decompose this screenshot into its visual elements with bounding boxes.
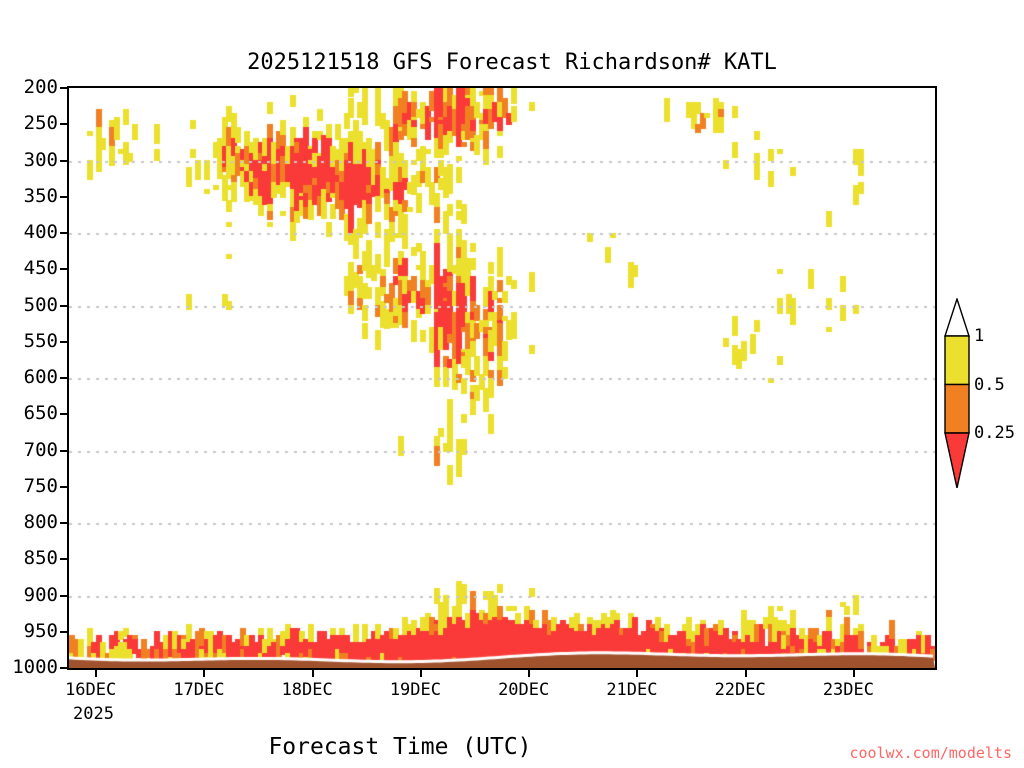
x-tick-label: 21DEC (606, 681, 657, 700)
x-tick-mark (312, 670, 314, 677)
x-axis: 16DEC17DEC18DEC19DEC20DEC21DEC22DEC23DEC (0, 0, 1024, 768)
forecast-chart-figure: 2025121518 GFS Forecast Richardson# KATL… (0, 0, 1024, 768)
x-tick-label: 18DEC (282, 681, 333, 700)
x-tick-label: 19DEC (390, 681, 441, 700)
colorbar-tick-label: 0.5 (974, 375, 1005, 395)
x-tick-mark (95, 670, 97, 677)
x-tick-label: 16DEC (65, 681, 116, 700)
credit-watermark: coolwx.com/modelts (849, 744, 1012, 762)
colorbar-tick-label: 1 (974, 326, 984, 346)
x-axis-year-label: 2025 (73, 704, 114, 724)
x-axis-title: Forecast Time (UTC) (0, 734, 800, 760)
colorbar-tick-label: 0.25 (974, 423, 1015, 443)
x-tick-mark (745, 670, 747, 677)
x-tick-mark (420, 670, 422, 677)
x-tick-label: 22DEC (715, 681, 766, 700)
colorbar[interactable] (944, 298, 970, 488)
x-tick-label: 20DEC (498, 681, 549, 700)
x-tick-label: 17DEC (173, 681, 224, 700)
x-tick-mark (203, 670, 205, 677)
x-tick-mark (528, 670, 530, 677)
colorbar-swatches (944, 298, 970, 488)
x-tick-mark (853, 670, 855, 677)
x-tick-mark (636, 670, 638, 677)
x-tick-label: 23DEC (823, 681, 874, 700)
